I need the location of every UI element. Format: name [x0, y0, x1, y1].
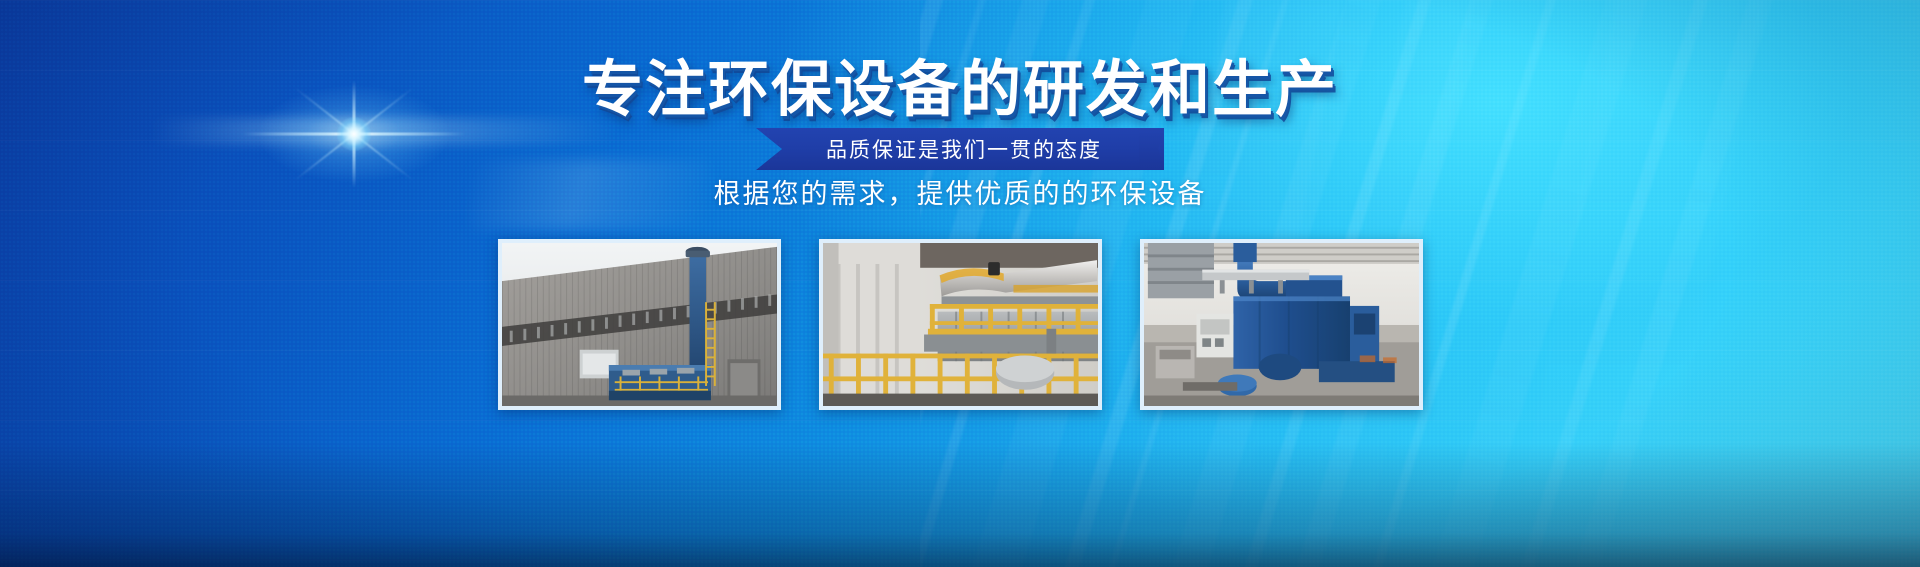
- dust-collector-photo: [1144, 243, 1419, 406]
- factory-building-photo: [502, 243, 777, 406]
- banner-content: 专注环保设备的研发和生产 品质保证是我们一贯的态度 根据您的需求，提供优质的的环…: [0, 0, 1920, 567]
- photo-gallery: [0, 239, 1920, 410]
- banner-headline: 专注环保设备的研发和生产: [0, 58, 1920, 122]
- gallery-photo-3[interactable]: [1140, 239, 1423, 410]
- gallery-photo-1[interactable]: [498, 239, 781, 410]
- banner-tagline: 根据您的需求，提供优质的的环保设备: [0, 178, 1920, 212]
- quality-promise-badge: 品质保证是我们一贯的态度: [756, 128, 1164, 170]
- workshop-platform-photo: [823, 243, 1098, 406]
- hero-banner: 专注环保设备的研发和生产 品质保证是我们一贯的态度 根据您的需求，提供优质的的环…: [0, 0, 1920, 567]
- gallery-photo-2[interactable]: [819, 239, 1102, 410]
- badge-container: 品质保证是我们一贯的态度: [0, 128, 1920, 170]
